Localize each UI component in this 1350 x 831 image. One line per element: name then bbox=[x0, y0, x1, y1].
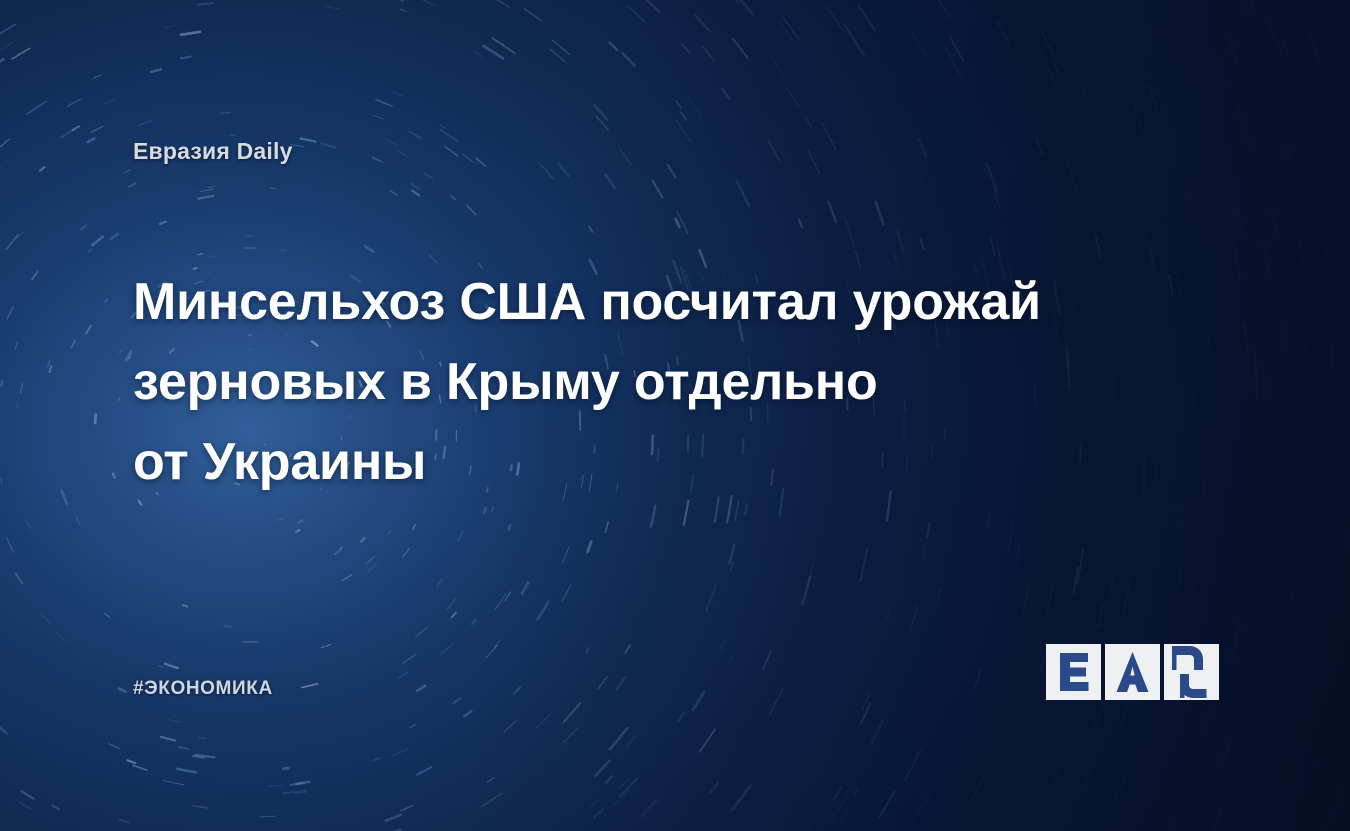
headline-line-1: Минсельхоз США посчитал урожай bbox=[133, 262, 1133, 342]
logo-letter-a-icon bbox=[1105, 644, 1160, 700]
logo-tile-d bbox=[1164, 644, 1219, 700]
headline: Минсельхоз США посчитал урожай зерновых … bbox=[133, 262, 1133, 502]
logo-tile-e bbox=[1046, 644, 1101, 700]
logo-tile-a bbox=[1105, 644, 1160, 700]
brand-name: Евразия Daily bbox=[133, 138, 293, 165]
logo-letter-e-icon bbox=[1046, 644, 1101, 700]
logo-letter-d-split-icon bbox=[1164, 644, 1219, 700]
headline-line-3: от Украины bbox=[133, 422, 1133, 502]
eadaily-logo[interactable] bbox=[1046, 644, 1220, 700]
news-card: Евразия Daily Минсельхоз США посчитал ур… bbox=[0, 0, 1350, 831]
headline-line-2: зерновых в Крыму отдельно bbox=[133, 342, 1133, 422]
category-tag[interactable]: #ЭКОНОМИКА bbox=[133, 678, 273, 700]
